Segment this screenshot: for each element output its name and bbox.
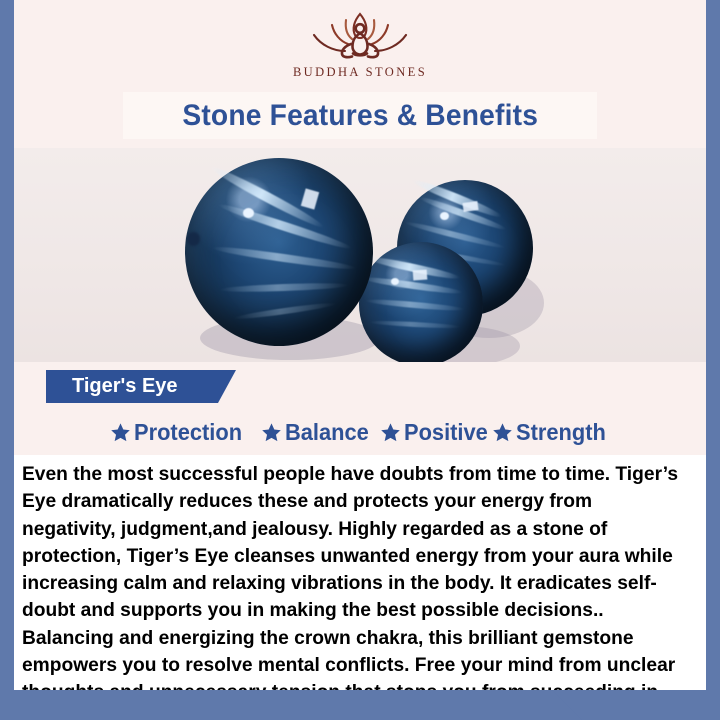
benefit-label: Protection <box>134 419 242 446</box>
gemstone-bead-small <box>359 242 483 362</box>
page-title: Stone Features & Benefits <box>182 99 538 133</box>
stone-name-tag: Tiger's Eye <box>46 370 236 403</box>
stone-info-poster: BUDDHA STONES Stone Features & Benefits <box>0 0 720 720</box>
gemstone-photo <box>14 148 706 362</box>
frame-border-bottom <box>0 686 720 720</box>
poster-canvas: BUDDHA STONES Stone Features & Benefits <box>14 0 706 690</box>
benefit-item: Positive <box>380 419 492 446</box>
frame-border-left <box>0 0 14 720</box>
benefit-label: Strength <box>516 419 606 446</box>
benefits-row: Protection Balance Positive Stren <box>14 414 706 450</box>
benefit-item: Balance <box>261 419 373 446</box>
gemstone-bead-large <box>185 158 373 346</box>
lotus-meditation-icon <box>301 8 419 64</box>
description-text: Even the most successful people have dou… <box>22 461 682 690</box>
brand-logo: BUDDHA STONES <box>14 8 706 90</box>
title-banner: Stone Features & Benefits <box>123 92 597 139</box>
benefit-label: Positive <box>404 419 488 446</box>
stone-name: Tiger's Eye <box>46 375 178 398</box>
star-icon <box>380 422 401 443</box>
brand-name: BUDDHA STONES <box>293 65 427 80</box>
star-icon <box>492 422 513 443</box>
benefit-item: Strength <box>492 419 611 446</box>
star-icon <box>261 422 282 443</box>
description-panel: Even the most successful people have dou… <box>14 455 706 690</box>
benefit-item: Protection <box>110 419 248 446</box>
star-icon <box>110 422 131 443</box>
benefit-label: Balance <box>285 419 369 446</box>
